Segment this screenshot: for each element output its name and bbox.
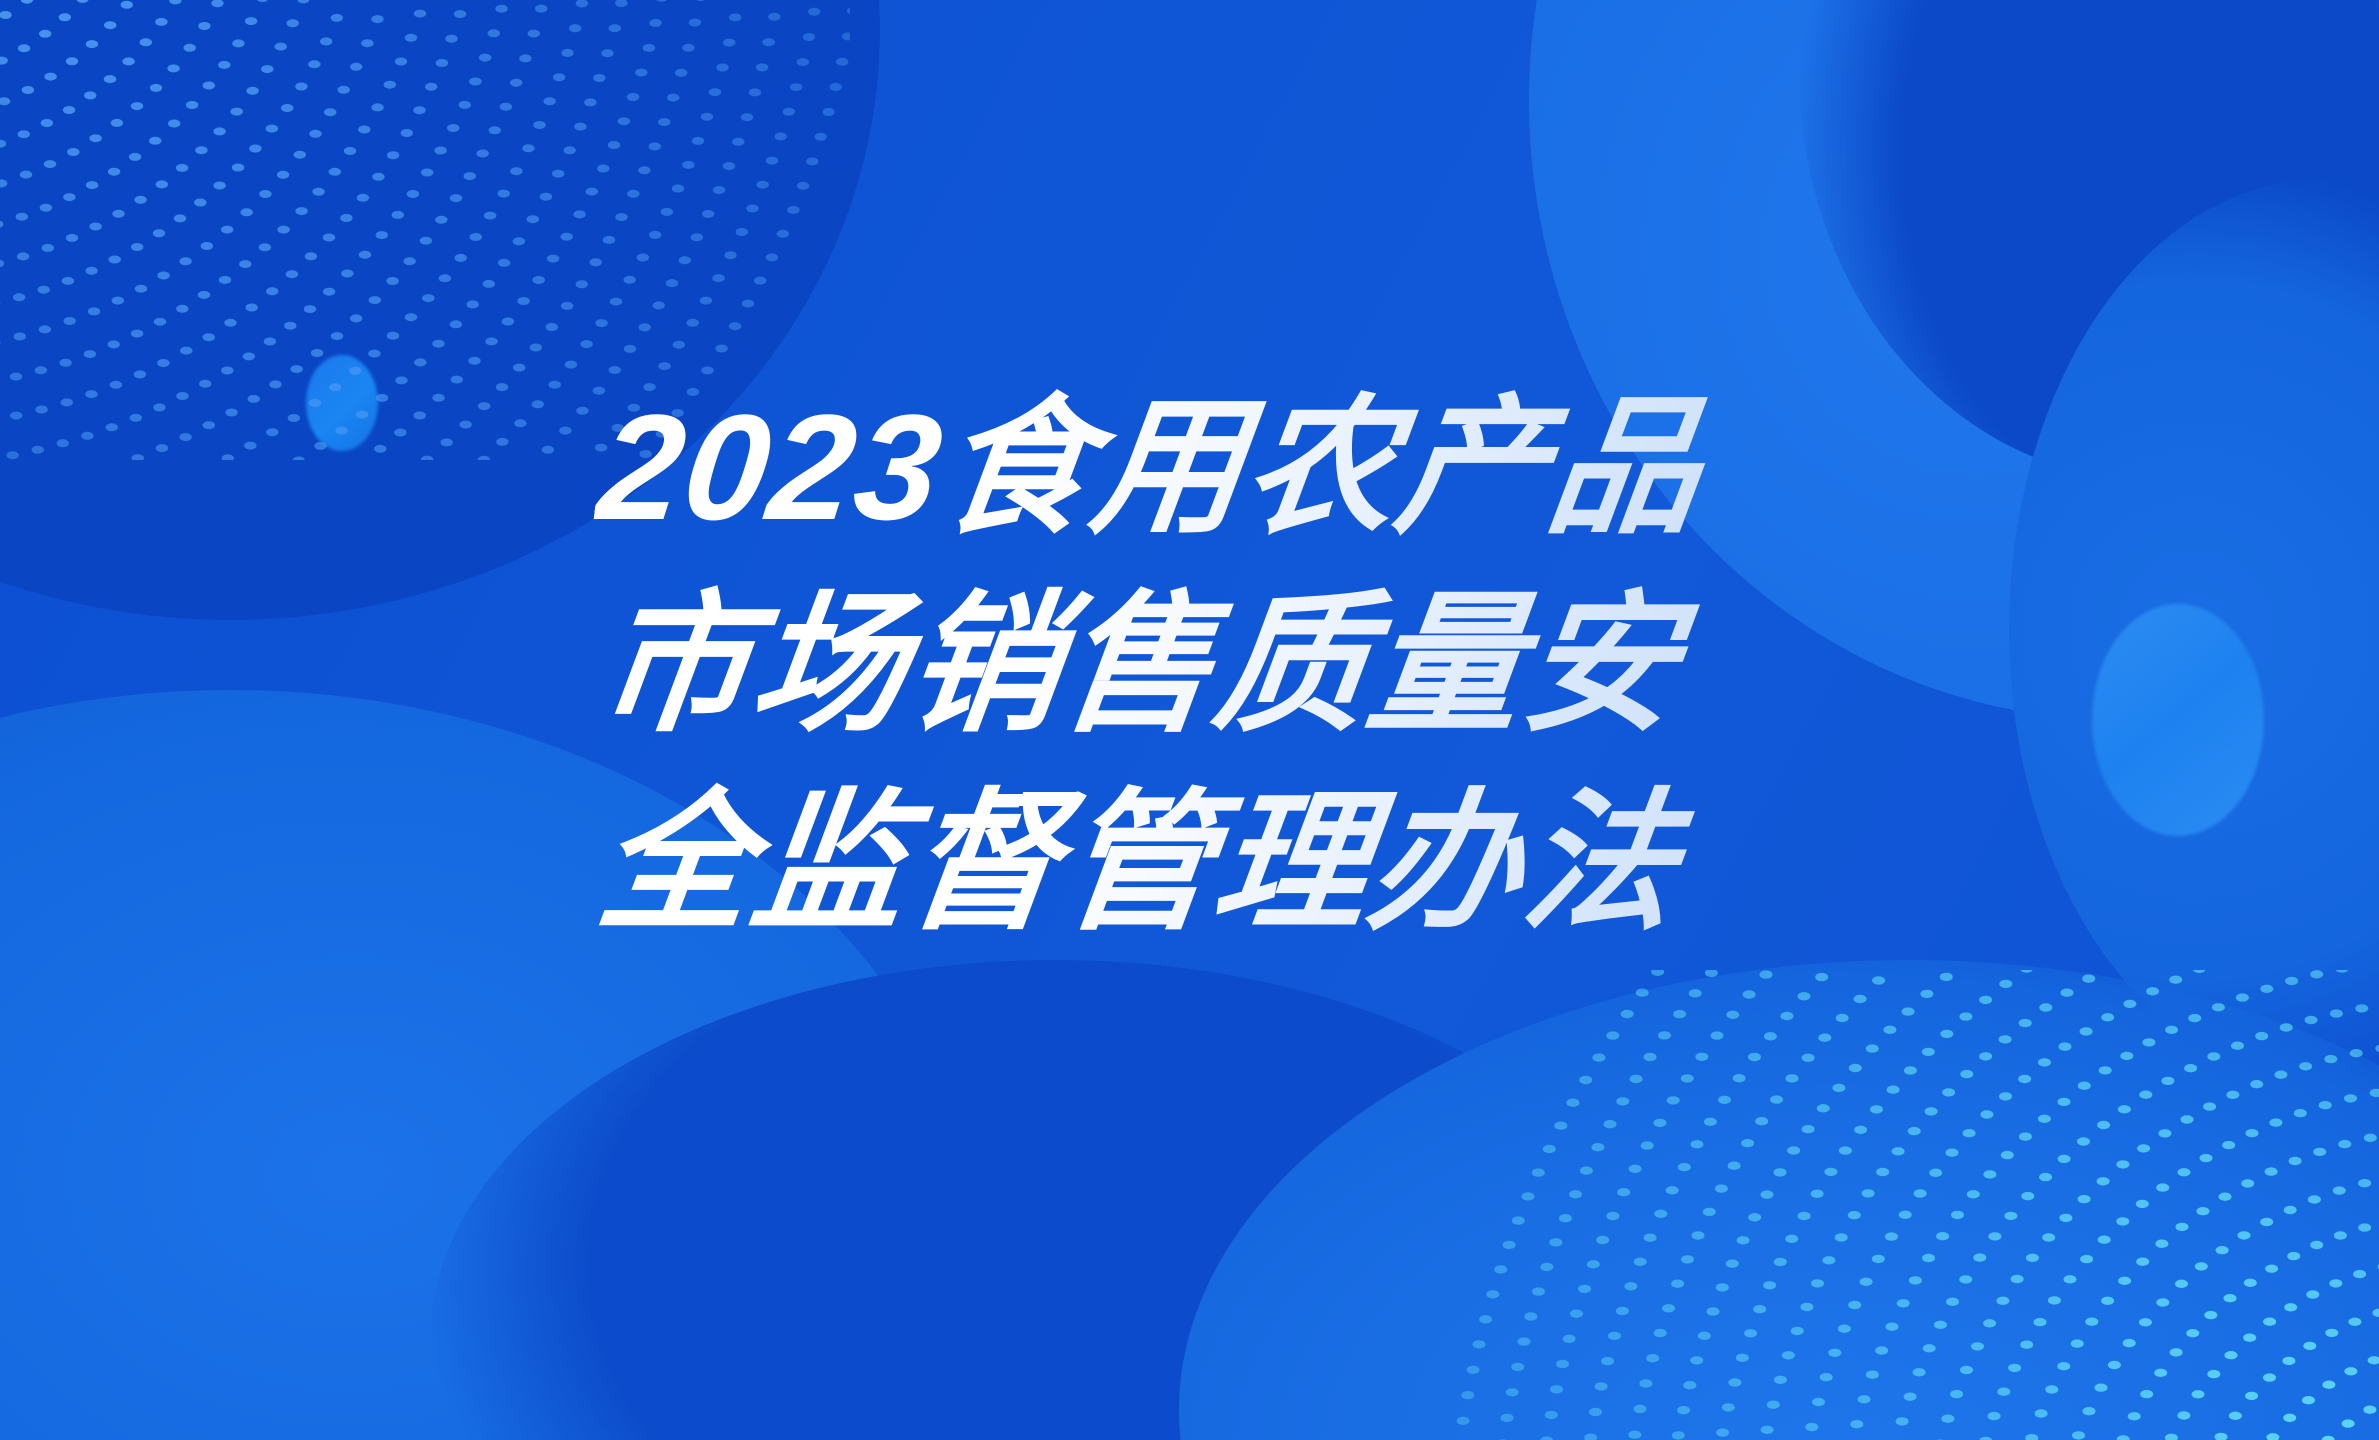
poster-title: 2023食用农产品 市场销售质量安 全监督管理办法 [600, 368, 1930, 962]
poster-canvas: 2023食用农产品 市场销售质量安 全监督管理办法 [0, 0, 2379, 1440]
background-blob-bottom-middle-dark [430, 960, 1680, 1440]
poster-title-line-2: 市场销售质量安 [588, 566, 1942, 764]
background-blob-bottom-right-light [1179, 960, 2379, 1440]
accent-ellipse-left [306, 355, 378, 451]
poster-title-line-3: 全监督管理办法 [588, 764, 1942, 962]
accent-ellipse-right [2092, 604, 2264, 836]
poster-title-line-1: 2023食用农产品 [588, 368, 1942, 566]
background-blob-right-edge [2009, 180, 2379, 1080]
dot-fan-bottom-right-icon [1419, 970, 2379, 1440]
